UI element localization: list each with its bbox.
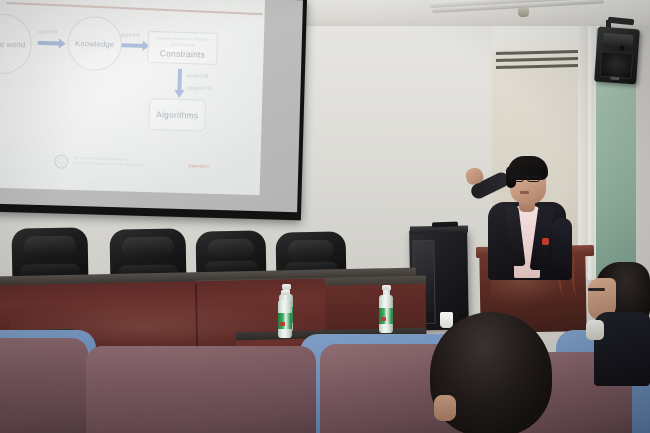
water-bottle-2[interactable] — [278, 290, 292, 338]
eyeglasses-lens-left — [511, 174, 524, 182]
bottle-label — [278, 313, 292, 329]
slide-footer-highlight: Geoinform — [188, 163, 209, 169]
bottle-body — [379, 295, 393, 333]
presenter — [466, 150, 586, 280]
slide-footer-logo-icon — [54, 154, 68, 168]
sprinkler-head-icon — [518, 8, 529, 17]
speaker-badge — [610, 77, 619, 81]
bottle-label — [379, 308, 393, 324]
diagram-node-real-world: Real world — [0, 13, 32, 75]
eyeglasses-lens-right — [527, 174, 540, 182]
equipment-rack-item — [432, 222, 458, 228]
projection-screen-surface: Method Real world learning Knowledge der… — [0, 0, 303, 212]
diagram-arrow-modeling-integrating — [177, 69, 182, 91]
speaker-woofer — [599, 51, 633, 79]
diagram-node-knowledge: Knowledge — [67, 16, 122, 71]
speaker-horn — [603, 33, 634, 49]
audience-member-center-ear — [434, 395, 456, 421]
projection-screen: Method Real world learning Knowledge der… — [0, 0, 307, 220]
bottle-body — [278, 300, 292, 338]
diagram-edge-label-integrating: integrating — [186, 85, 212, 92]
diagram-node-constraints: Geometric, Topological, Attributive, and… — [147, 31, 218, 65]
presenter-lapel-badge — [542, 238, 549, 245]
diagram-node-constraints-label: Constraints — [160, 48, 205, 59]
audience-member-right-glasses-icon — [588, 288, 605, 291]
audience-member-right-shoulder-item — [586, 320, 604, 340]
diagram-arrow-learning — [38, 41, 60, 46]
wall-speaker-icon — [594, 27, 640, 85]
water-bottle-3[interactable] — [379, 285, 393, 333]
diagram-edge-label-learning: learning — [38, 29, 58, 36]
diagram-node-constraints-sublabel: Geometric, Topological, Attributive, and… — [149, 36, 217, 48]
diagram-arrow-deriving — [122, 43, 144, 48]
speaker-tweeter — [619, 45, 624, 50]
presentation-room-photo: Method Real world learning Knowledge der… — [0, 0, 650, 433]
auditorium-seat-left[interactable] — [0, 338, 88, 433]
slide-footer-text: 3D Geoinformation Research Group Institu… — [74, 156, 184, 170]
presenter-right-arm — [552, 218, 572, 280]
diagram-edge-label-deriving: deriving — [121, 32, 140, 39]
diagram-node-algorithms: Algorithms — [148, 98, 206, 132]
diagram-edge-label-modeling: modeling — [187, 73, 209, 80]
auditorium-seat-midleft[interactable] — [86, 346, 316, 433]
projected-slide: Method Real world learning Knowledge der… — [0, 0, 265, 195]
presenter-mouth — [520, 191, 529, 194]
